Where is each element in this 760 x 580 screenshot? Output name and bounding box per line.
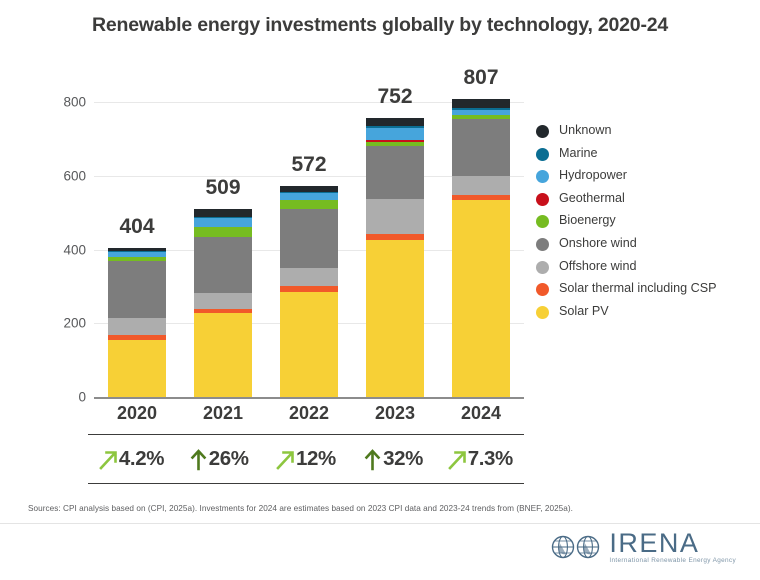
legend-label: Bioenergy <box>559 214 616 228</box>
irena-wordmark: IRENA <box>609 530 736 556</box>
globe-icon <box>550 534 602 560</box>
legend-swatch-icon <box>536 193 549 206</box>
legend-swatch-icon <box>536 238 549 251</box>
growth-rate-item: 26% <box>175 435 262 483</box>
irena-logo: IRENA International Renewable Energy Age… <box>550 530 736 564</box>
legend-swatch-icon <box>536 306 549 319</box>
stacked-bar[interactable] <box>108 248 166 397</box>
legend-label: Geothermal <box>559 192 625 206</box>
legend-label: Marine <box>559 147 598 161</box>
bar-segment[interactable] <box>194 218 252 227</box>
bar-segment[interactable] <box>452 119 510 176</box>
bar-segment[interactable] <box>366 128 424 141</box>
legend-label: Solar PV <box>559 305 609 319</box>
legend-item[interactable]: Offshore wind <box>536 260 756 274</box>
y-axis-tick-label: 800 <box>44 95 86 110</box>
growth-rate-item: 12% <box>262 435 349 483</box>
bar-total-label: 572 <box>254 153 364 177</box>
bar-segment[interactable] <box>194 227 252 237</box>
legend-label: Onshore wind <box>559 237 637 251</box>
y-axis-tick-label: 400 <box>44 242 86 257</box>
growth-rate-item: 32% <box>350 435 437 483</box>
legend-swatch-icon <box>536 215 549 228</box>
bar-segment[interactable] <box>194 209 252 217</box>
bar-segment[interactable] <box>366 146 424 199</box>
bar-group[interactable]: 752 <box>366 102 424 397</box>
growth-rate-value: 7.3% <box>468 447 513 471</box>
legend-swatch-icon <box>536 283 549 296</box>
y-axis-tick-label: 0 <box>44 390 86 405</box>
irena-tagline: International Renewable Energy Agency <box>609 557 736 564</box>
stacked-bar[interactable] <box>452 99 510 397</box>
growth-rate-item: 4.2% <box>88 435 175 483</box>
bar-segment[interactable] <box>452 176 510 194</box>
growth-rate-value: 12% <box>296 447 336 471</box>
growth-rate-band: 4.2%26%12%32%7.3% <box>88 434 524 484</box>
bar-segment[interactable] <box>280 292 338 397</box>
bar-total-label: 404 <box>82 215 192 239</box>
bar-segment[interactable] <box>366 240 424 397</box>
bar-total-label: 509 <box>168 176 278 200</box>
arrow-up-icon <box>363 447 382 471</box>
legend-item[interactable]: Solar PV <box>536 305 756 319</box>
stacked-bar[interactable] <box>366 118 424 397</box>
arrow-up-right-icon <box>99 447 118 471</box>
legend-swatch-icon <box>536 261 549 274</box>
bar-segment[interactable] <box>108 318 166 336</box>
legend-item[interactable]: Marine <box>536 147 756 161</box>
legend-swatch-icon <box>536 148 549 161</box>
bar-group[interactable]: 572 <box>280 102 338 397</box>
legend-label: Unknown <box>559 124 612 138</box>
bar-segment[interactable] <box>366 118 424 126</box>
page-title: Renewable energy investments globally by… <box>0 14 760 37</box>
legend-label: Offshore wind <box>559 260 636 274</box>
legend-label: Solar thermal including CSP <box>559 282 717 296</box>
bar-segment[interactable] <box>452 99 510 108</box>
legend-item[interactable]: Solar thermal including CSP <box>536 282 756 296</box>
bar-total-label: 807 <box>426 66 536 90</box>
legend-item[interactable]: Hydropower <box>536 169 756 183</box>
bar-segment[interactable] <box>108 261 166 318</box>
legend: UnknownMarineHydropowerGeothermalBioener… <box>536 124 756 327</box>
y-axis-tick-label: 600 <box>44 168 86 183</box>
bar-segment[interactable] <box>280 268 338 286</box>
legend-item[interactable]: Unknown <box>536 124 756 138</box>
bar-segment[interactable] <box>194 293 252 309</box>
legend-swatch-icon <box>536 170 549 183</box>
bar-segment[interactable] <box>194 313 252 397</box>
bar-segment[interactable] <box>366 199 424 234</box>
stacked-bar[interactable] <box>280 186 338 397</box>
growth-rate-value: 32% <box>383 447 423 471</box>
arrow-up-icon <box>189 447 208 471</box>
bar-segment[interactable] <box>280 209 338 268</box>
growth-rate-item: 7.3% <box>437 435 524 483</box>
bar-segment[interactable] <box>108 340 166 397</box>
y-axis-tick-label: 200 <box>44 316 86 331</box>
footer-divider <box>0 523 760 524</box>
bar-group[interactable]: 404 <box>108 102 166 397</box>
stacked-bar[interactable] <box>194 209 252 397</box>
source-note: Sources: CPI analysis based on (CPI, 202… <box>28 504 728 513</box>
x-axis-line <box>94 397 524 399</box>
legend-item[interactable]: Onshore wind <box>536 237 756 251</box>
legend-item[interactable]: Bioenergy <box>536 214 756 228</box>
legend-item[interactable]: Geothermal <box>536 192 756 206</box>
legend-label: Hydropower <box>559 169 627 183</box>
arrow-up-right-icon <box>448 447 467 471</box>
bar-group[interactable]: 807 <box>452 102 510 397</box>
arrow-up-right-icon <box>276 447 295 471</box>
bar-segment[interactable] <box>452 200 510 397</box>
x-axis-tick-label: 2024 <box>426 403 536 424</box>
legend-swatch-icon <box>536 125 549 138</box>
plot-area: 404509572752807 <box>94 102 524 397</box>
growth-rate-value: 4.2% <box>119 447 164 471</box>
bar-segment[interactable] <box>194 237 252 292</box>
growth-rate-value: 26% <box>209 447 249 471</box>
bar-segment[interactable] <box>280 200 338 209</box>
bar-group[interactable]: 509 <box>194 102 252 397</box>
